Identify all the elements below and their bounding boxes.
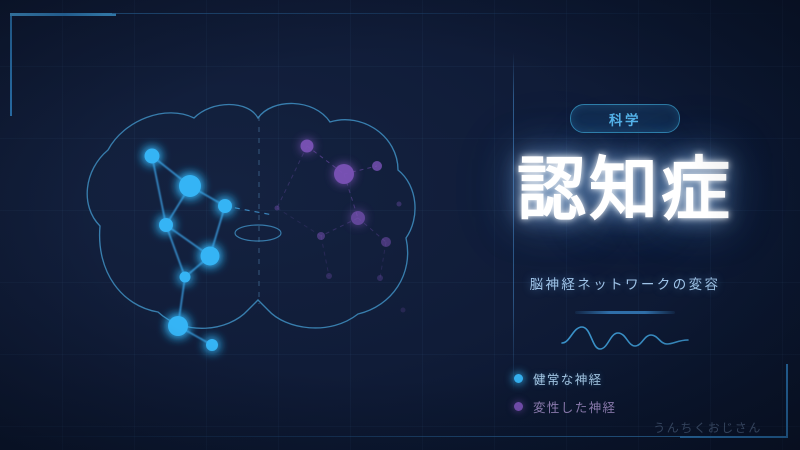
legend-dot-degenerated-icon <box>514 402 523 411</box>
brain-outline <box>87 103 415 328</box>
legend-item-degenerated: 変性した神経 <box>514 397 780 416</box>
legend-dot-healthy-icon <box>514 374 523 383</box>
accent-bar <box>575 311 675 314</box>
brainstem-ellipse <box>235 225 281 241</box>
neural-waveform-icon <box>560 321 690 355</box>
legend: 健常な神経 変性した神経 <box>514 369 780 416</box>
interhemispheric-link <box>225 206 273 215</box>
badge-row: 科学 <box>470 104 780 133</box>
frame-line-bottom <box>0 436 700 437</box>
frame-line-top <box>112 13 800 14</box>
legend-item-healthy: 健常な神経 <box>514 369 780 388</box>
content-column: 科学 認知症 脳神経ネットワークの変容 健常な神経 変性した神経 <box>470 104 780 416</box>
legend-label-healthy: 健常な神経 <box>533 369 603 388</box>
slide-canvas: 科学 認知症 脳神経ネットワークの変容 健常な神経 変性した神経 うんちくおじさ… <box>0 0 800 450</box>
category-badge[interactable]: 科学 <box>570 104 680 133</box>
legend-label-degenerated: 変性した神経 <box>533 397 616 416</box>
degenerated-network <box>275 140 406 313</box>
brain-network-diagram <box>62 78 442 378</box>
page-subtitle: 脳神経ネットワークの変容 <box>470 273 780 293</box>
healthy-network <box>145 149 233 352</box>
page-title: 認知症 <box>470 155 780 227</box>
waveform-wrap <box>470 321 780 355</box>
watermark: うんちくおじさん <box>653 419 762 436</box>
